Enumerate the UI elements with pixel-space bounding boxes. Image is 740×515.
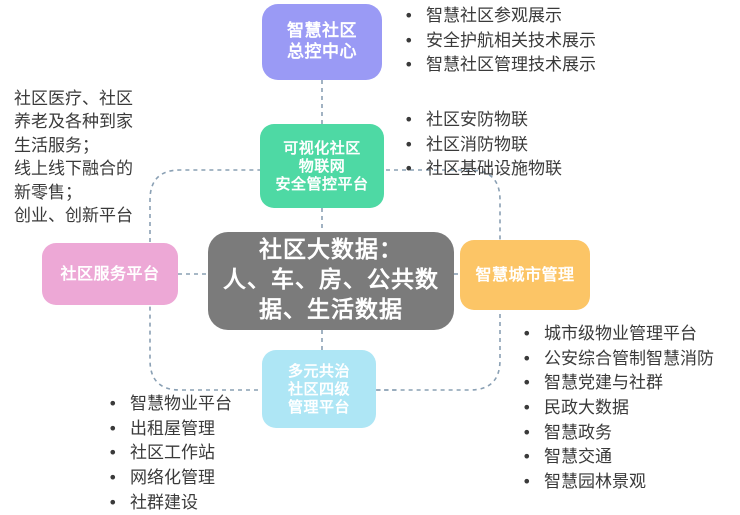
list-item: • 社区基础设施物联 xyxy=(400,157,562,182)
list-item-label: 智慧党建与社群 xyxy=(544,373,663,393)
list-item-label: 社区消防物联 xyxy=(426,135,528,155)
list-item-label: 社区基础设施物联 xyxy=(426,159,562,179)
bullet-icon: • xyxy=(404,53,414,76)
annotation-control-center-list: • 智慧社区参观展示 • 安全护航相关技术展示 • 智慧社区管理技术展示 xyxy=(400,4,596,78)
bullet-icon: • xyxy=(522,371,532,394)
bullet-icon: • xyxy=(108,491,118,514)
list-item-label: 智慧交通 xyxy=(544,447,612,467)
bullet-icon: • xyxy=(522,347,532,370)
bullet-icon: • xyxy=(522,396,532,419)
node-iot-platform-label: 可视化社区 物联网 安全管控平台 xyxy=(275,139,368,194)
bullet-icon: • xyxy=(404,157,414,180)
node-service-platform[interactable]: 社区服务平台 xyxy=(42,243,178,305)
bullet-icon: • xyxy=(522,470,532,493)
list-item: • 智慧社区参观展示 xyxy=(400,4,596,29)
bullet-icon: • xyxy=(404,133,414,156)
list-item: • 城市级物业管理平台 xyxy=(518,322,714,347)
node-governance-platform[interactable]: 多元共治 社区四级 管理平台 xyxy=(262,350,376,428)
bullet-icon: • xyxy=(404,108,414,131)
node-control-center[interactable]: 智慧社区 总控中心 xyxy=(262,4,382,80)
annotation-service-platform: 社区医疗、社区 养老及各种到家 生活服务； 线上线下融合的 新零售； 创业、创新… xyxy=(14,88,133,229)
list-item-label: 民政大数据 xyxy=(544,398,629,418)
bullet-icon: • xyxy=(108,441,118,464)
list-item: • 智慧交通 xyxy=(518,445,714,470)
bullet-icon: • xyxy=(522,322,532,345)
list-item-label: 智慧社区管理技术展示 xyxy=(426,55,596,75)
list-item-label: 智慧政务 xyxy=(544,423,612,443)
list-item: • 社区消防物联 xyxy=(400,133,562,158)
bullet-icon: • xyxy=(404,29,414,52)
bullet-icon: • xyxy=(108,466,118,489)
list-item-label: 社区工作站 xyxy=(130,443,215,463)
node-city-management-label: 智慧城市管理 xyxy=(475,265,574,285)
list-item: • 社区安防物联 xyxy=(400,108,562,133)
list-item-label: 社区安防物联 xyxy=(426,110,528,130)
list-item: • 智慧社区管理技术展示 xyxy=(400,53,596,78)
list-item: • 公安综合管制智慧消防 xyxy=(518,347,714,372)
list-item: • 安全护航相关技术展示 xyxy=(400,29,596,54)
list-item-label: 智慧园林景观 xyxy=(544,472,646,492)
bullet-icon: • xyxy=(522,445,532,468)
list-item-label: 出租屋管理 xyxy=(130,419,215,439)
annotation-control-center: • 智慧社区参观展示 • 安全护航相关技术展示 • 智慧社区管理技术展示 xyxy=(400,4,596,78)
annotation-governance-list: • 智慧物业平台 • 出租屋管理 • 社区工作站 • 网络化管理 • 社群建设 xyxy=(104,392,232,515)
bullet-icon: • xyxy=(404,4,414,27)
node-control-center-label: 智慧社区 总控中心 xyxy=(287,21,357,62)
list-item: • 智慧政务 xyxy=(518,421,714,446)
bullet-icon: • xyxy=(108,417,118,440)
annotation-iot-platform-list: • 社区安防物联 • 社区消防物联 • 社区基础设施物联 xyxy=(400,108,562,182)
node-big-data-center-label: 社区大数据： 人、车、房、公共数 据、生活数据 xyxy=(223,236,439,326)
list-item: • 智慧园林景观 xyxy=(518,470,714,495)
list-item: • 民政大数据 xyxy=(518,396,714,421)
list-item-label: 智慧社区参观展示 xyxy=(426,6,562,26)
node-big-data-center[interactable]: 社区大数据： 人、车、房、公共数 据、生活数据 xyxy=(208,232,454,330)
list-item: • 智慧物业平台 xyxy=(104,392,232,417)
annotation-iot-platform: • 社区安防物联 • 社区消防物联 • 社区基础设施物联 xyxy=(400,108,562,182)
list-item-label: 智慧物业平台 xyxy=(130,394,232,414)
diagram-canvas: 智慧社区 总控中心 可视化社区 物联网 安全管控平台 社区大数据： 人、车、房、… xyxy=(0,0,740,512)
annotation-city-management: • 城市级物业管理平台 • 公安综合管制智慧消防 • 智慧党建与社群 • 民政大… xyxy=(518,322,714,494)
node-city-management[interactable]: 智慧城市管理 xyxy=(460,240,590,310)
node-service-platform-label: 社区服务平台 xyxy=(60,264,159,284)
list-item-label: 公安综合管制智慧消防 xyxy=(544,349,714,369)
bullet-icon: • xyxy=(108,392,118,415)
annotation-city-management-list: • 城市级物业管理平台 • 公安综合管制智慧消防 • 智慧党建与社群 • 民政大… xyxy=(518,322,714,494)
list-item: • 出租屋管理 xyxy=(104,417,232,442)
list-item: • 社群建设 xyxy=(104,491,232,515)
list-item-label: 安全护航相关技术展示 xyxy=(426,31,596,51)
list-item-label: 社群建设 xyxy=(130,493,198,513)
list-item: • 智慧党建与社群 xyxy=(518,371,714,396)
node-iot-platform[interactable]: 可视化社区 物联网 安全管控平台 xyxy=(260,124,384,208)
list-item: • 网络化管理 xyxy=(104,466,232,491)
list-item: • 社区工作站 xyxy=(104,441,232,466)
list-item-label: 城市级物业管理平台 xyxy=(544,324,697,344)
node-governance-platform-label: 多元共治 社区四级 管理平台 xyxy=(288,362,350,417)
annotation-governance-platform: • 智慧物业平台 • 出租屋管理 • 社区工作站 • 网络化管理 • 社群建设 xyxy=(104,392,232,515)
list-item-label: 网络化管理 xyxy=(130,468,215,488)
bullet-icon: • xyxy=(522,421,532,444)
